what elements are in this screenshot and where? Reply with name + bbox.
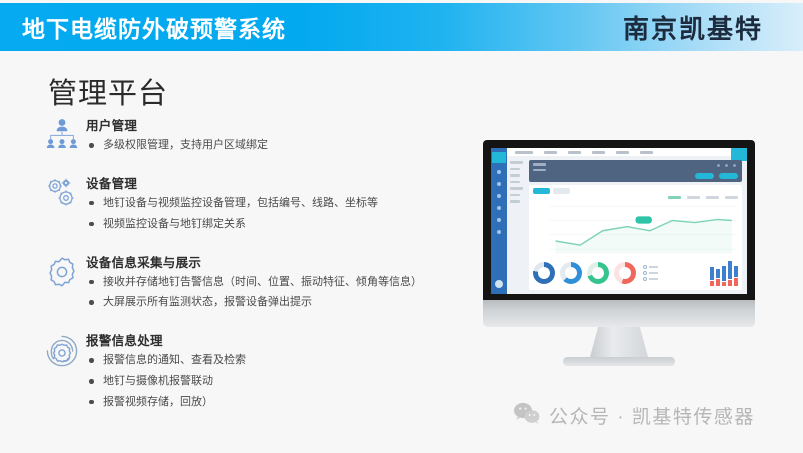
bar-group <box>728 261 732 286</box>
banner-line <box>533 163 546 166</box>
feature-title: 报警信息处理 <box>86 330 498 349</box>
feature-bullets: 地钉设备与视频监控设备管理，包括编号、线路、坐标等 视频监控设备与地钉绑定关系 <box>86 196 498 232</box>
banner-button <box>719 173 738 179</box>
submenu-item <box>510 194 520 197</box>
bar <box>734 266 738 277</box>
bullet-item: 地钉设备与视频监控设备管理，包括编号、线路、坐标等 <box>86 196 498 211</box>
sidebar-icon <box>497 218 501 222</box>
page-title: 管理平台 <box>48 70 168 112</box>
legend-row <box>643 265 658 269</box>
bullet-item: 地钉与摄像机报警联动 <box>86 374 498 389</box>
feature-body: 设备管理 地钉设备与视频监控设备管理，包括编号、线路、坐标等 视频监控设备与地钉… <box>86 172 498 238</box>
donut-chart <box>614 262 636 284</box>
submenu-item <box>510 161 523 164</box>
bar <box>728 261 732 279</box>
bar-group <box>734 266 738 286</box>
feature-title: 设备信息采集与展示 <box>86 252 498 271</box>
watermark-text: 公众号 · 凯基特传感器 <box>549 402 755 429</box>
submenu-item <box>510 187 523 190</box>
legend-text <box>649 272 658 274</box>
nav-item <box>515 151 533 154</box>
bullet-item: 多级权限管理，支持用户区域绑定 <box>86 138 498 153</box>
monitor-stand-base <box>563 357 675 366</box>
sidebar-avatar <box>495 280 503 288</box>
sidebar-logo <box>492 152 506 163</box>
bar <box>722 282 726 286</box>
bar <box>728 280 732 286</box>
line-chart <box>533 200 738 257</box>
nav-item <box>544 151 557 154</box>
feature-bullets: 报警信息的通知、查看及检索 地钉与摄像机报警联动 报警视频存储，回放） <box>86 353 498 410</box>
submenu-item <box>510 181 520 184</box>
bar-chart <box>710 260 738 286</box>
dashboard-submenu <box>507 156 529 294</box>
bar <box>716 279 720 286</box>
chart-tab <box>553 188 570 194</box>
feature-list: 用户管理 多级权限管理，支持用户区域绑定 <box>38 114 498 429</box>
legend-entry <box>706 196 719 199</box>
legend-text <box>649 266 658 268</box>
monitor-chin <box>483 300 755 327</box>
bullet-item: 接收并存储地钉告警信息（时间、位置、振动特征、倾角等信息） <box>86 275 498 290</box>
dashboard-body <box>507 156 747 294</box>
banner-line <box>533 169 546 172</box>
sidebar-icon <box>497 194 501 198</box>
feature-item-device-management: 设备管理 地钉设备与视频监控设备管理，包括编号、线路、坐标等 视频监控设备与地钉… <box>38 172 498 238</box>
legend-entry <box>687 196 700 199</box>
monitor-stand-neck <box>590 327 648 357</box>
donut-chart <box>533 262 555 284</box>
slide-root: 地下电缆防外破预警系统 南京凯基特 管理平台 <box>0 0 803 453</box>
bar <box>710 281 714 286</box>
bar <box>722 266 726 281</box>
banner-dot <box>725 164 728 167</box>
legend-dot <box>643 271 647 275</box>
feature-body: 用户管理 多级权限管理，支持用户区域绑定 <box>86 114 498 159</box>
feature-item-user-management: 用户管理 多级权限管理，支持用户区域绑定 <box>38 114 498 159</box>
chart-kpi-row <box>533 257 738 287</box>
legend-dot <box>643 277 647 281</box>
org-chart-icon <box>38 114 86 148</box>
feature-item-alarm-handling: 报警信息处理 报警信息的通知、查看及检索 地钉与摄像机报警联动 报警视频存储，回… <box>38 329 498 416</box>
bullet-item: 报警信息的通知、查看及检索 <box>86 353 498 368</box>
monitor-mockup <box>483 140 755 366</box>
sidebar-icon <box>497 206 501 210</box>
sidebar-icon <box>497 170 501 174</box>
feature-body: 设备信息采集与展示 接收并存储地钉告警信息（时间、位置、振动特征、倾角等信息） … <box>86 251 498 317</box>
feature-bullets: 多级权限管理，支持用户区域绑定 <box>86 138 498 153</box>
alarm-settings-icon <box>38 329 86 369</box>
nav-item <box>592 151 605 154</box>
nav-item <box>568 151 581 154</box>
monitor-screen-bezel <box>483 140 755 300</box>
donut-chart <box>560 262 582 284</box>
gear-outline-icon <box>38 251 86 289</box>
dashboard-banner-card <box>529 160 742 182</box>
bullet-item: 报警视频存储，回放） <box>86 395 498 410</box>
banner-button <box>695 173 714 179</box>
wechat-icon <box>513 402 540 429</box>
bar <box>734 278 738 286</box>
bar-group <box>722 266 726 286</box>
dashboard-sidebar <box>491 148 507 294</box>
feature-title: 用户管理 <box>86 115 498 134</box>
nav-action-button <box>731 148 747 161</box>
sidebar-icon <box>497 182 501 186</box>
chart-legend <box>533 196 738 199</box>
bullet-item: 大屏展示所有监测状态，报警设备弹出提示 <box>86 295 498 310</box>
bar <box>710 267 714 280</box>
bar-group <box>710 267 714 286</box>
feature-title: 设备管理 <box>86 173 498 192</box>
nav-item <box>616 151 629 154</box>
feature-item-data-collection: 设备信息采集与展示 接收并存储地钉告警信息（时间、位置、振动特征、倾角等信息） … <box>38 251 498 317</box>
banner-dot <box>717 164 720 167</box>
nav-item <box>640 151 653 154</box>
company-brand-name: 南京凯基特 <box>623 9 763 46</box>
sidebar-icon <box>497 230 501 234</box>
header-band: 地下电缆防外破预警系统 南京凯基特 <box>0 3 803 51</box>
dashboard-content <box>529 156 747 294</box>
dashboard-topnav <box>507 148 747 156</box>
submenu-item <box>510 168 520 171</box>
feature-bullets: 接收并存储地钉告警信息（时间、位置、振动特征、倾角等信息） 大屏展示所有监测状态… <box>86 275 498 311</box>
chart-tabs <box>533 188 738 194</box>
legend-entry <box>668 196 681 199</box>
submenu-item <box>510 174 520 177</box>
legend-dot <box>643 265 647 269</box>
dashboard-screenshot <box>491 148 747 294</box>
dashboard-main <box>507 148 747 294</box>
dashboard-chart-card <box>529 185 742 290</box>
feature-body: 报警信息处理 报警信息的通知、查看及检索 地钉与摄像机报警联动 报警视频存储，回… <box>86 329 498 416</box>
gears-icon <box>38 172 86 210</box>
banner-dot <box>733 164 736 167</box>
legend-entry <box>725 196 738 199</box>
watermark: 公众号 · 凯基特传感器 <box>513 402 755 429</box>
legend-row <box>643 277 658 281</box>
bar <box>716 269 720 278</box>
kpi-legend <box>643 265 658 281</box>
bar-group <box>716 269 720 286</box>
legend-text <box>649 278 658 280</box>
donut-chart <box>587 262 609 284</box>
submenu-item <box>510 200 520 203</box>
page-header-title: 地下电缆防外破预警系统 <box>22 10 286 44</box>
chart-tab-active <box>533 188 550 194</box>
bullet-item: 视频监控设备与地钉绑定关系 <box>86 217 498 232</box>
legend-row <box>643 271 658 275</box>
